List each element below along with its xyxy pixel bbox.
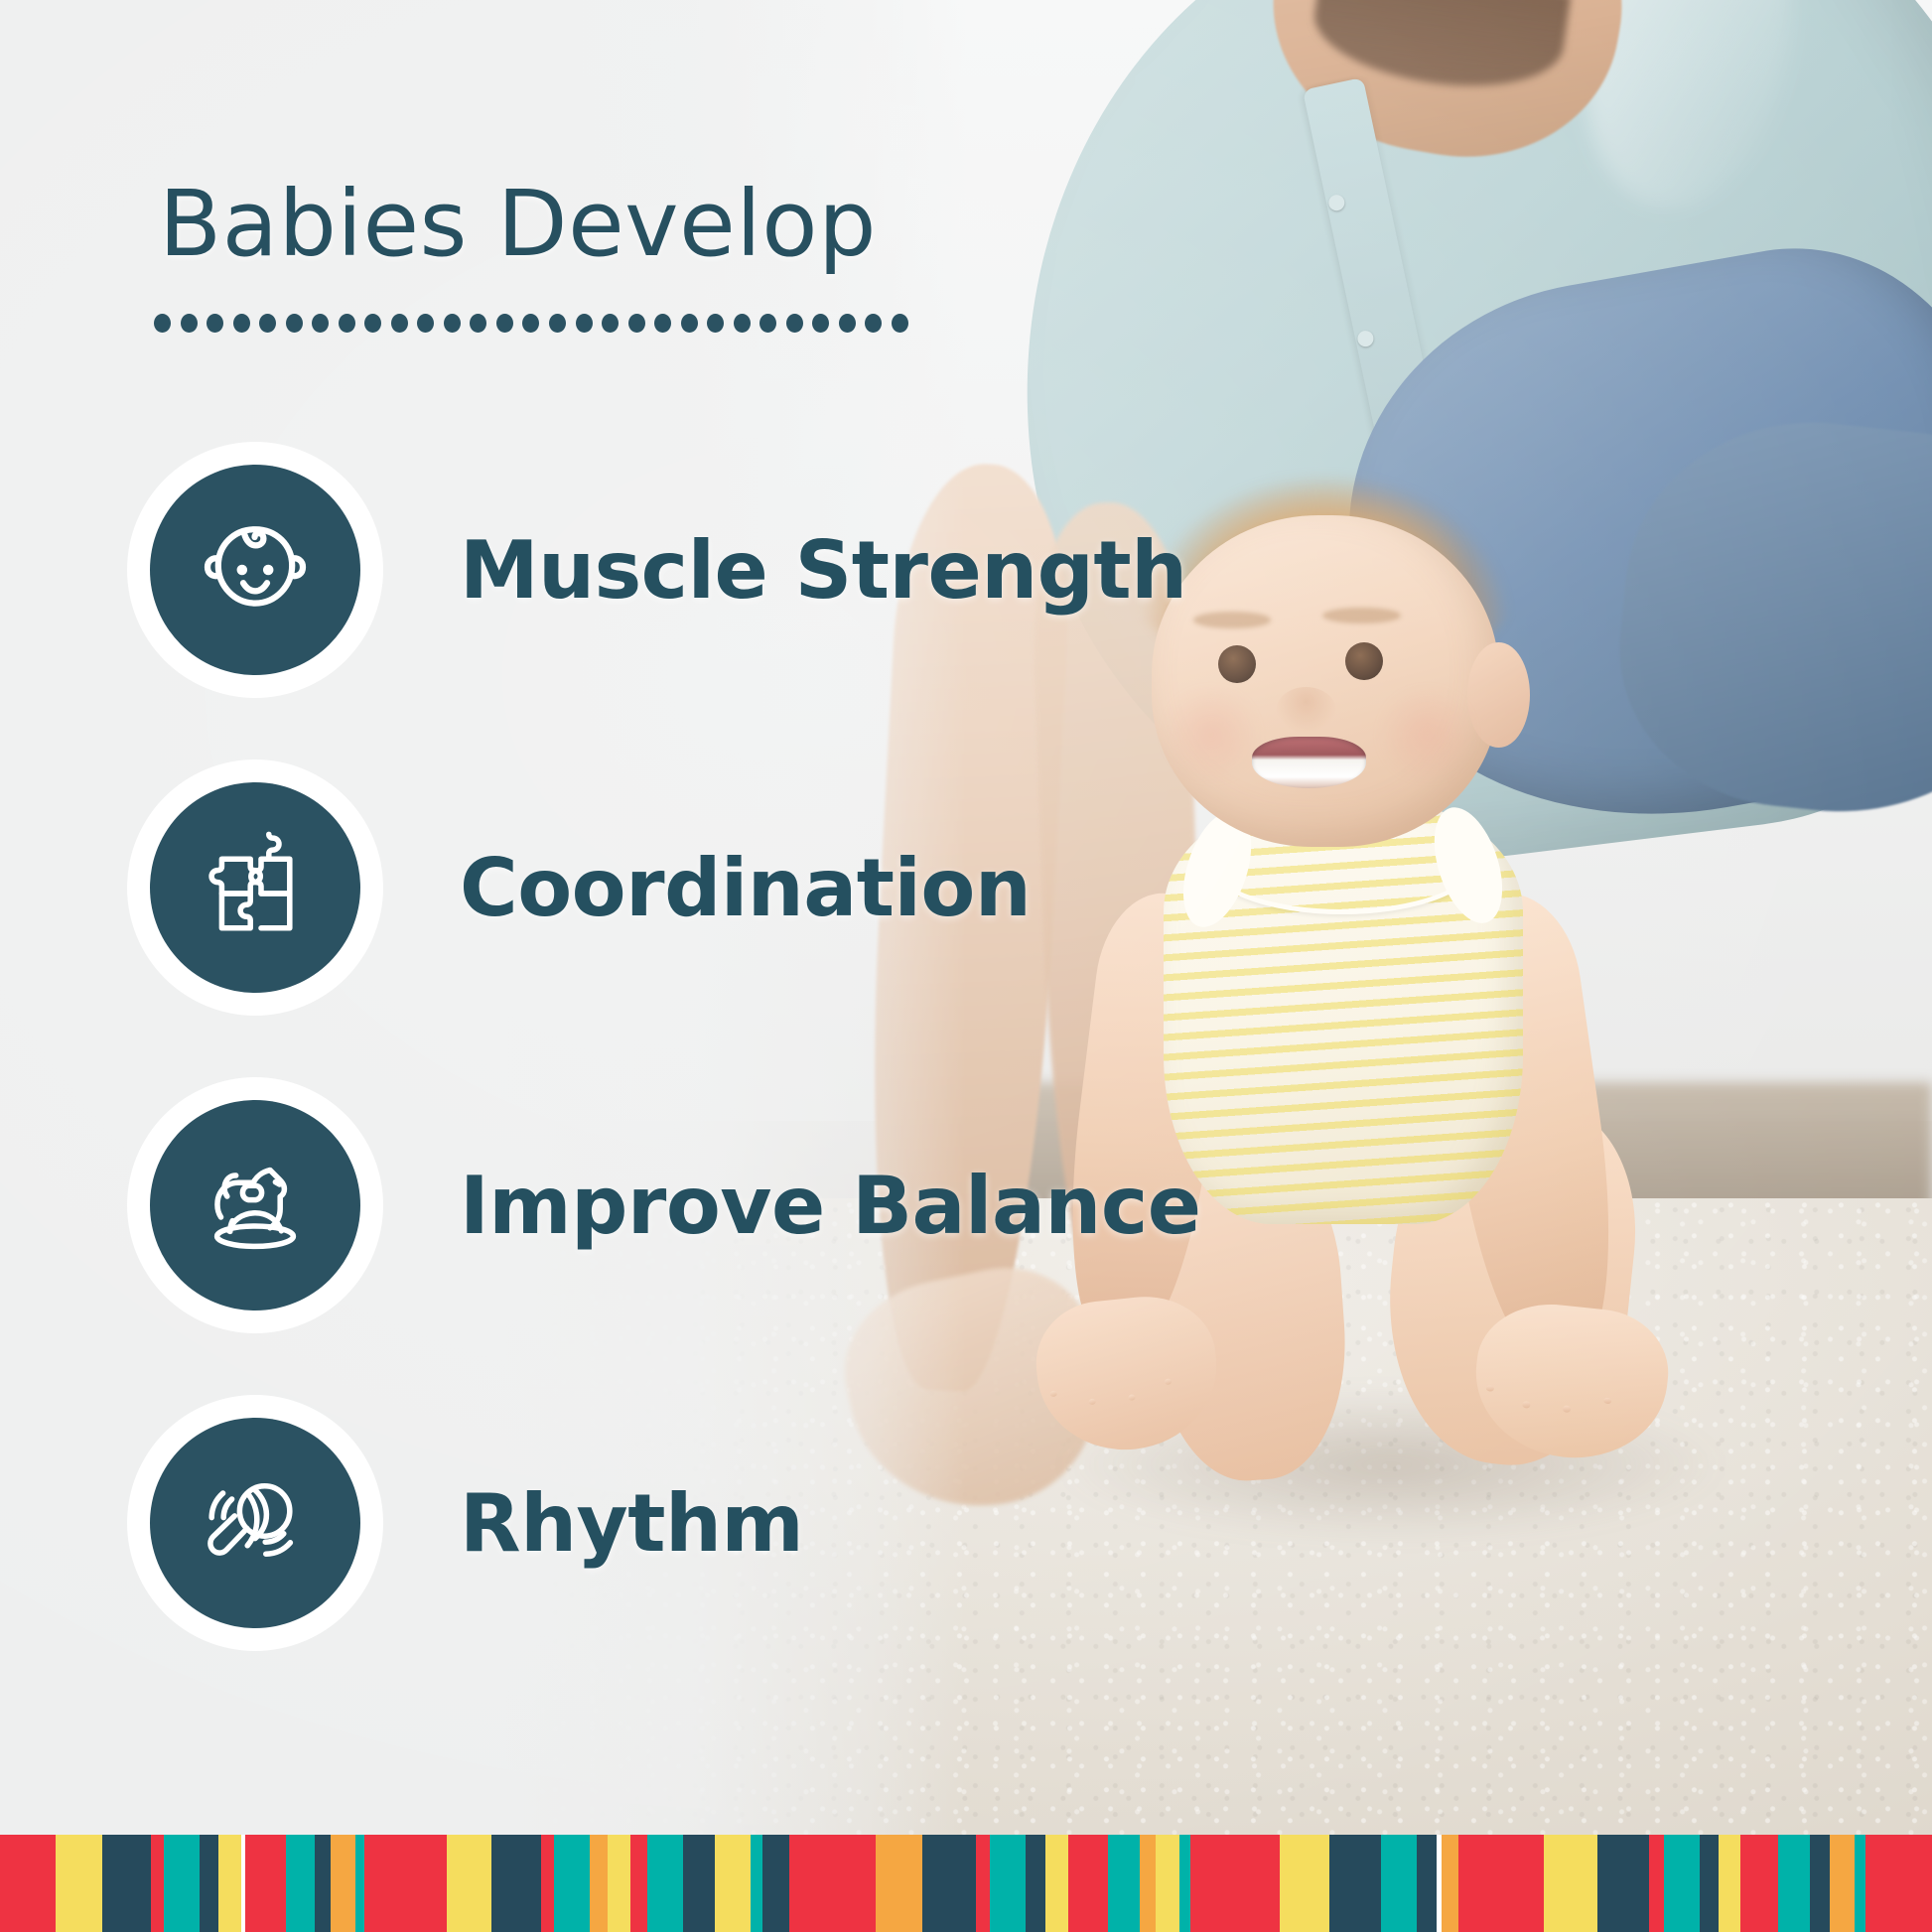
- stripe-segment: [355, 1835, 364, 1932]
- divider-dot: [707, 314, 724, 333]
- divider-dot: [496, 314, 513, 333]
- stripe-segment: [922, 1835, 976, 1932]
- stripe-segment: [647, 1835, 683, 1932]
- benefit-label: Muscle Strength: [460, 524, 1187, 617]
- rocking-horse-icon: [196, 1146, 315, 1265]
- stripe-segment: [1156, 1835, 1178, 1932]
- benefit-icon-badge: [127, 759, 383, 1016]
- stripe-segment: [715, 1835, 751, 1932]
- divider-dot: [681, 314, 698, 333]
- icon-disc: [150, 782, 360, 993]
- color-stripe-bar: [0, 1835, 1932, 1932]
- benefit-list: Muscle StrengthCoordinationImprove Balan…: [0, 411, 1241, 1682]
- benefit-icon-badge: [127, 1395, 383, 1651]
- divider-dot: [154, 314, 171, 333]
- stripe-segment: [976, 1835, 990, 1932]
- divider-dot: [181, 314, 198, 333]
- benefit-label: Improve Balance: [460, 1160, 1201, 1252]
- stripe-segment: [0, 1835, 56, 1932]
- stripe-segment: [1280, 1835, 1329, 1932]
- stripe-segment: [1190, 1835, 1280, 1932]
- stripe-segment: [590, 1835, 608, 1932]
- benefit-row[interactable]: Improve Balance: [0, 1046, 1241, 1364]
- divider-dot: [312, 314, 329, 333]
- stripe-segment: [1442, 1835, 1457, 1932]
- divider-dot: [602, 314, 619, 333]
- stripe-segment: [1026, 1835, 1045, 1932]
- divider-dot: [759, 314, 776, 333]
- stripe-segment: [1179, 1835, 1190, 1932]
- stripe-segment: [683, 1835, 715, 1932]
- stripe-segment: [1140, 1835, 1156, 1932]
- stripe-segment: [1700, 1835, 1720, 1932]
- stripe-segment: [164, 1835, 200, 1932]
- benefit-label: Coordination: [460, 842, 1031, 934]
- stripe-segment: [1649, 1835, 1663, 1932]
- stripe-segment: [1855, 1835, 1865, 1932]
- icon-disc: [150, 1418, 360, 1628]
- stripe-segment: [200, 1835, 219, 1932]
- benefit-row[interactable]: Muscle Strength: [0, 411, 1241, 729]
- stripe-segment: [1068, 1835, 1108, 1932]
- divider-dot: [812, 314, 829, 333]
- stripe-segment: [751, 1835, 763, 1932]
- stripe-segment: [1830, 1835, 1855, 1932]
- stripe-segment: [286, 1835, 315, 1932]
- divider-dot: [470, 314, 486, 333]
- stripe-segment: [990, 1835, 1026, 1932]
- stripe-segment: [102, 1835, 152, 1932]
- divider-dot: [786, 314, 803, 333]
- stripe-segment: [1381, 1835, 1417, 1932]
- stripe-segment: [1458, 1835, 1544, 1932]
- divider-dot: [391, 314, 408, 333]
- stripe-segment: [1108, 1835, 1140, 1932]
- divider-dot: [576, 314, 593, 333]
- stripe-segment: [447, 1835, 491, 1932]
- divider-dot: [734, 314, 751, 333]
- divider-dot: [892, 314, 908, 333]
- baby-face-icon: [196, 510, 315, 629]
- divider-dot: [364, 314, 381, 333]
- stripe-segment: [491, 1835, 541, 1932]
- baby-rattle-icon: [196, 1463, 315, 1583]
- icon-disc: [150, 465, 360, 675]
- stripe-segment: [876, 1835, 922, 1932]
- divider-dot: [444, 314, 461, 333]
- stripe-segment: [1719, 1835, 1740, 1932]
- stripe-segment: [1865, 1835, 1932, 1932]
- stripe-segment: [1417, 1835, 1437, 1932]
- divider-dot: [549, 314, 566, 333]
- benefit-row[interactable]: Coordination: [0, 729, 1241, 1046]
- stripe-segment: [1778, 1835, 1810, 1932]
- stripe-segment: [1664, 1835, 1700, 1932]
- divider-dot: [339, 314, 355, 333]
- stripe-segment: [364, 1835, 447, 1932]
- divider-dot: [839, 314, 856, 333]
- stripe-segment: [1810, 1835, 1830, 1932]
- benefit-label: Rhythm: [460, 1477, 803, 1570]
- divider-dot: [259, 314, 276, 333]
- page-title: Babies Develop: [159, 179, 877, 270]
- stripe-segment: [1740, 1835, 1778, 1932]
- stripe-segment: [1597, 1835, 1649, 1932]
- puzzle-pieces-icon: [196, 828, 315, 947]
- content-layer: Babies Develop Muscle StrengthCoordinati…: [0, 0, 1932, 1932]
- stripe-segment: [218, 1835, 241, 1932]
- divider-dot: [233, 314, 250, 333]
- divider-dot: [286, 314, 303, 333]
- stripe-segment: [630, 1835, 646, 1932]
- divider-dot: [628, 314, 645, 333]
- stripe-segment: [1544, 1835, 1597, 1932]
- divider-dot: [522, 314, 539, 333]
- divider-dot: [417, 314, 434, 333]
- stripe-segment: [151, 1835, 164, 1932]
- stripe-segment: [56, 1835, 102, 1932]
- stripe-segment: [789, 1835, 875, 1932]
- benefit-row[interactable]: Rhythm: [0, 1364, 1241, 1682]
- stripe-segment: [554, 1835, 590, 1932]
- stripe-segment: [762, 1835, 789, 1932]
- divider-dot: [654, 314, 671, 333]
- benefit-icon-badge: [127, 442, 383, 698]
- benefit-icon-badge: [127, 1077, 383, 1333]
- stripe-segment: [331, 1835, 355, 1932]
- poster-canvas: Babies Develop Muscle StrengthCoordinati…: [0, 0, 1932, 1932]
- stripe-segment: [541, 1835, 554, 1932]
- stripe-segment: [1329, 1835, 1381, 1932]
- dotted-divider: [154, 306, 908, 340]
- stripe-segment: [1045, 1835, 1068, 1932]
- stripe-segment: [608, 1835, 630, 1932]
- divider-dot: [865, 314, 882, 333]
- icon-disc: [150, 1100, 360, 1311]
- stripe-segment: [245, 1835, 286, 1932]
- divider-dot: [207, 314, 223, 333]
- stripe-segment: [315, 1835, 331, 1932]
